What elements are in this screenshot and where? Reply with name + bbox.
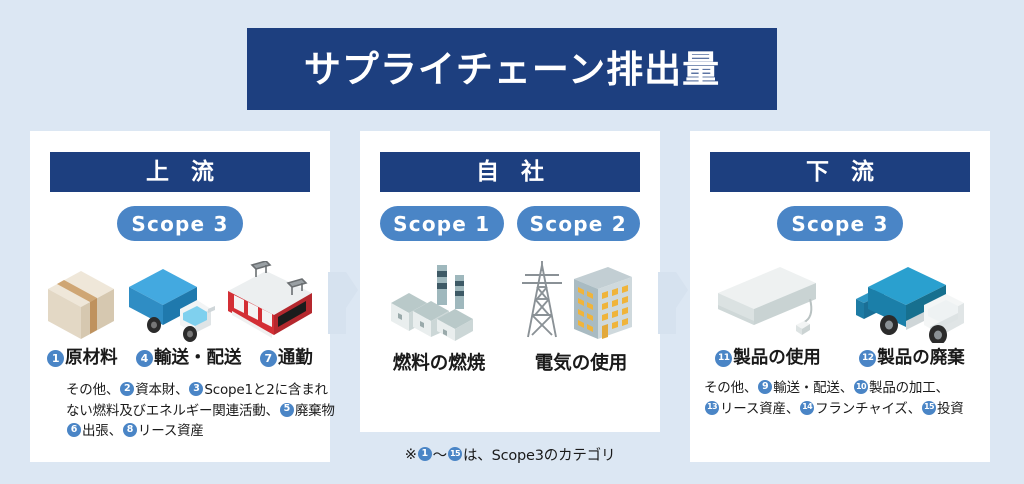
factory-icon [385,259,493,343]
panel-own-heading: 自 社 [469,161,551,184]
detail-text-run: リース資産 [138,423,204,439]
panel-downstream: 下 流 Scope 3 [690,131,990,462]
panel-upstream-detail: その他、2資本財、3Scope1と2に含まれない燃料及びエネルギー関連活動、5廃… [66,380,352,442]
panel-own-company: 自 社 Scope 1 Scope 2 [360,131,660,432]
panel-upstream-heading: 上 流 [139,161,221,184]
scope-badge-own-scope2[interactable]: Scope 2 [517,206,641,241]
item-label-text: 原材料 [65,350,118,368]
tram-icon [222,261,318,343]
page-title: サプライチェーン排出量 [304,51,720,88]
circled-number: 14 [800,401,814,415]
panel-own-icon-row [372,253,648,343]
circled-number: 10 [854,380,868,394]
delivery-truck-icon [125,263,217,343]
item-label-raw-materials: 1 原材料 [47,350,118,368]
detail-line: その他、9輸送・配送、10製品の加工、 [704,378,984,399]
panel-downstream-badge-row: Scope 3 [710,206,970,241]
page-title-banner: サプライチェーン排出量 [247,28,777,110]
circled-number: 5 [280,403,294,417]
panel-upstream-header: 上 流 [50,152,310,192]
circled-number: 2 [120,382,134,396]
item-label-text: 輸送・配送 [154,350,242,368]
panel-downstream-icon-row [702,253,978,343]
item-label-transport: 4 輸送・配送 [136,350,242,368]
panel-upstream-label-row: 1 原材料 4 輸送・配送 7 通勤 [38,350,322,368]
scope-badge-label: Scope 1 [393,214,490,234]
detail-text-run: 投資 [937,401,964,417]
circled-number: 15 [922,401,936,415]
item-label-text: 製品の廃棄 [877,350,965,368]
footnote: ※ 1 〜 15 は、Scope3のカテゴリ [360,444,660,465]
scope-badge-label: Scope 2 [530,214,627,234]
scope-badge-label: Scope 3 [131,214,228,234]
detail-text-run: 資本財、 [135,382,188,398]
item-label-product-use: 11 製品の使用 [715,350,821,368]
detail-text-run: 輸送・配送、 [773,380,853,396]
panel-downstream-detail: その他、9輸送・配送、10製品の加工、13リース資産、14フランチャイズ、15投… [704,378,984,419]
scope-badge-label: Scope 3 [791,214,888,234]
footnote-range: 〜 [433,444,447,465]
panel-upstream-icon-row [40,253,320,343]
item-label-electricity-use: 電気の使用 [535,355,628,374]
panel-own-header: 自 社 [380,152,640,192]
footnote-suffix: は、Scope3のカテゴリ [463,444,615,465]
detail-line: 13リース資産、14フランチャイズ、15投資 [704,399,984,420]
item-label-commuting: 7 通勤 [260,350,313,368]
detail-text-run: リース資産、 [720,401,799,417]
circled-number: 9 [758,380,772,394]
panel-upstream: 上 流 Scope 3 [30,131,330,462]
panel-downstream-label-row: 11 製品の使用 12 製品の廃棄 [696,350,984,368]
circled-number: 11 [715,350,732,367]
detail-text-run: ない燃料及びエネルギー関連活動、 [66,403,279,419]
panel-downstream-header: 下 流 [710,152,970,192]
item-label-text: 製品の使用 [733,350,821,368]
circled-number: 8 [123,423,137,437]
air-conditioner-icon [710,263,830,343]
power-pylon-building-icon [518,257,636,343]
item-label-fuel-combustion: 燃料の燃焼 [393,355,486,374]
cardboard-box-icon [42,267,120,343]
circled-number: 13 [705,401,719,415]
detail-line: ない燃料及びエネルギー関連活動、5廃棄物 [66,401,352,422]
circled-number: 7 [260,350,277,367]
detail-line: 6出張、8リース資産 [66,421,352,442]
item-label-text: 通勤 [278,350,313,368]
detail-line: その他、2資本財、3Scope1と2に含まれ [66,380,352,401]
scope-badge-own-scope1[interactable]: Scope 1 [380,206,504,241]
circled-number: 6 [67,423,81,437]
panel-downstream-heading: 下 流 [799,161,881,184]
circled-number: 12 [859,350,876,367]
detail-text-run: フランチャイズ、 [815,401,921,417]
flow-arrow-own-to-downstream [658,272,688,334]
detail-text-run: その他、 [704,380,757,396]
footnote-prefix: ※ [405,447,417,463]
detail-text-run: 廃棄物 [295,403,335,419]
circled-number: 1 [418,447,432,461]
circled-number: 15 [448,447,462,461]
scope-badge-upstream-scope3[interactable]: Scope 3 [117,206,242,241]
detail-text-run: その他、 [66,382,119,398]
flow-arrow-upstream-to-own [328,272,358,334]
circled-number: 4 [136,350,153,367]
circled-number: 1 [47,350,64,367]
panel-own-label-row: 燃料の燃焼 電気の使用 [368,355,652,374]
garbage-truck-icon [846,261,970,343]
scope-badge-downstream-scope3[interactable]: Scope 3 [777,206,902,241]
detail-text-run: 製品の加工、 [869,380,949,396]
detail-text-run: Scope1と2に含まれ [204,382,327,398]
circled-number: 3 [189,382,203,396]
panel-upstream-badge-row: Scope 3 [50,206,310,241]
panel-own-badge-row: Scope 1 Scope 2 [380,206,640,241]
item-label-product-disposal: 12 製品の廃棄 [859,350,965,368]
detail-text-run: 出張、 [82,423,122,439]
